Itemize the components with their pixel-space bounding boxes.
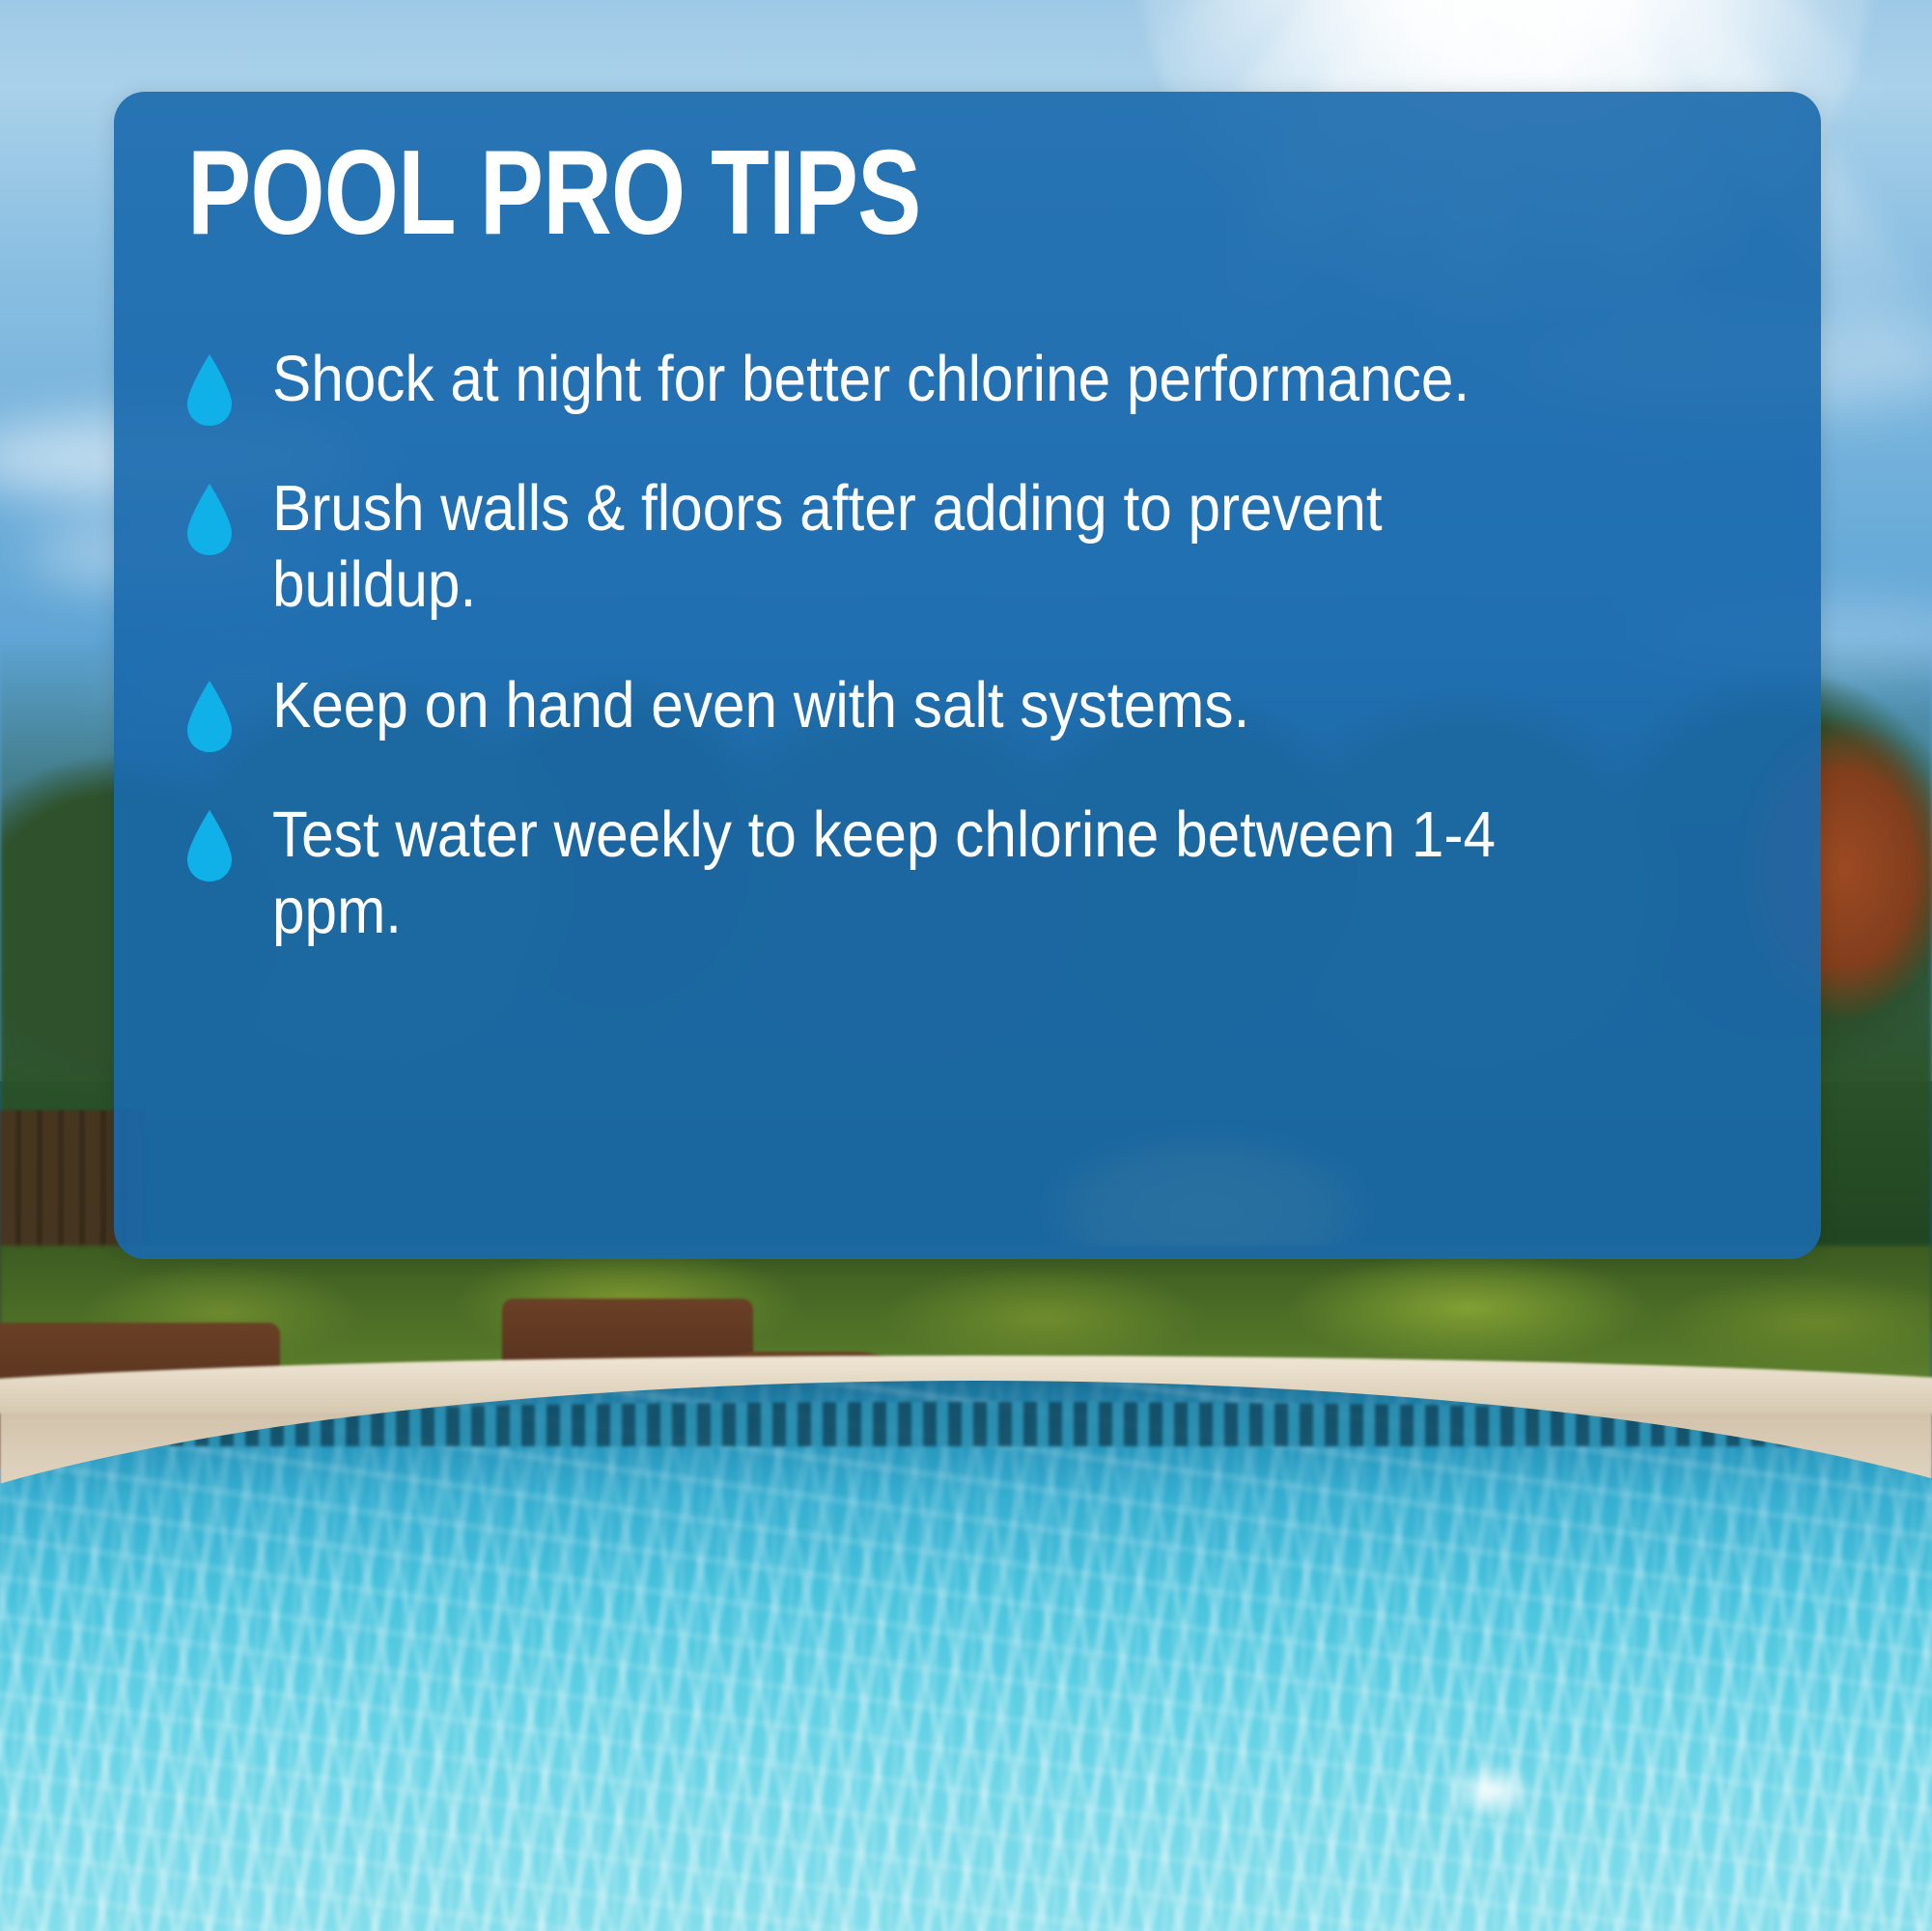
- list-item-label: Keep on hand even with salt systems.: [272, 667, 1249, 743]
- list-item-label: Shock at night for better chlorine perfo…: [272, 341, 1470, 417]
- list-item: Brush walls & floors after adding to pre…: [187, 470, 1763, 623]
- water-drop-icon: [187, 484, 232, 555]
- list-item-label: Test water weekly to keep chlorine betwe…: [272, 797, 1593, 949]
- list-item: Keep on hand even with salt systems.: [187, 667, 1763, 752]
- pool-water: [0, 1381, 1932, 1931]
- water-drop-icon: [187, 354, 232, 426]
- list-item: Shock at night for better chlorine perfo…: [187, 341, 1763, 426]
- infographic-canvas: POOL PRO TIPS Shock at night for better …: [0, 0, 1932, 1931]
- list-item: Test water weekly to keep chlorine betwe…: [187, 797, 1763, 949]
- tips-list: Shock at night for better chlorine perfo…: [187, 341, 1763, 949]
- water-drop-icon: [187, 810, 232, 882]
- page-title: POOL PRO TIPS: [187, 132, 920, 254]
- water-drop-icon: [187, 681, 232, 752]
- list-item-label: Brush walls & floors after adding to pre…: [272, 470, 1593, 623]
- pool-pro-tips-card: POOL PRO TIPS Shock at night for better …: [114, 92, 1821, 1259]
- water-sun-sparkle: [1429, 1738, 1554, 1844]
